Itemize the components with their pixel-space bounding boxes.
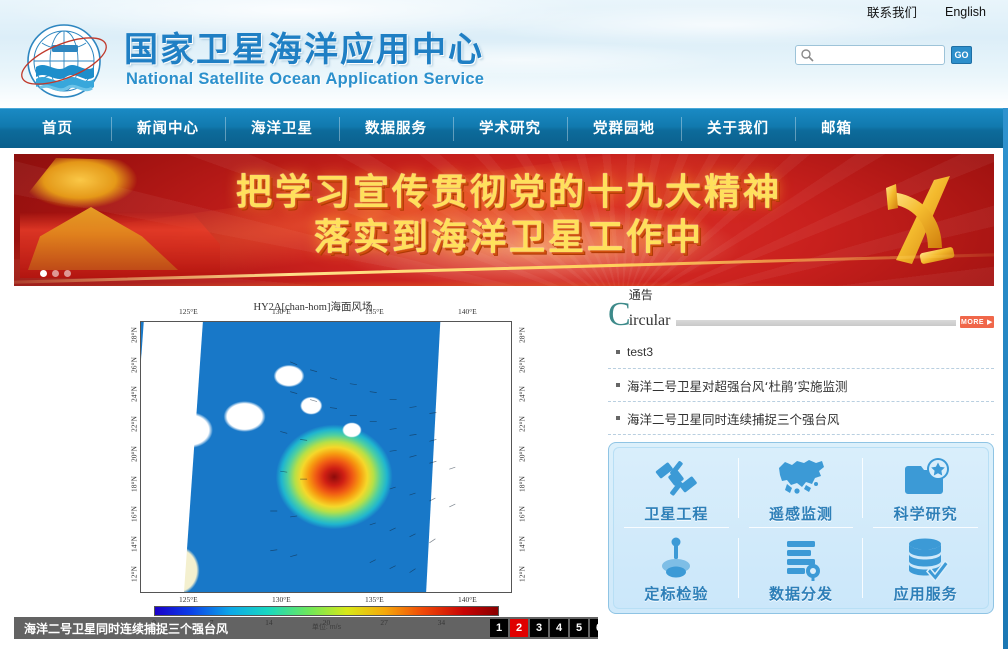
feature-caption-bar: 海洋二号卫星同时连续捕捉三个强台风 1 2 3 4 5 6 [14, 617, 598, 639]
quick-link-calibration-validation[interactable]: 定标检验 [614, 528, 739, 608]
wind-vector-arrows [141, 322, 511, 593]
y-tick-right-4: 20°N [517, 446, 526, 462]
banner-line-1: 把学习宣传贯彻党的十九大精神 [189, 172, 829, 214]
y-tick-right-0: 28°N [517, 327, 526, 343]
right-edge-accent [1003, 108, 1008, 649]
data-gear-icon [775, 534, 827, 582]
header-top-links: 联系我们 English [867, 2, 986, 21]
quick-link-scientific-research[interactable]: 科学研究 [863, 448, 988, 528]
nav-item-research[interactable]: 学术研究 [453, 109, 567, 149]
pager-item-1[interactable]: 1 [490, 619, 508, 637]
search-box: GO [795, 45, 972, 65]
bullet-icon [616, 416, 620, 420]
news-item-label: 海洋二号卫星同时连续捕捉三个强台风 [627, 409, 840, 428]
banner-dots [40, 270, 71, 277]
folder-star-icon [900, 454, 952, 502]
y-tick-left-1: 26°N [129, 357, 138, 373]
site-header: 国家卫星海洋应用中心 National Satellite Ocean Appl… [0, 0, 1008, 108]
y-tick-left-8: 12°N [129, 566, 138, 582]
y-tick-left-7: 14°N [129, 536, 138, 552]
main-navigation: 首页 新闻中心 海洋卫星 数据服务 学术研究 党群园地 关于我们 邮箱 [0, 108, 1008, 148]
y-tick-right-5: 18°N [517, 476, 526, 492]
list-item[interactable]: 海洋二号卫星同时连续捕捉三个强台风 [608, 402, 994, 435]
banner-text: 把学习宣传贯彻党的十九大精神 落实到海洋卫星工作中 [189, 172, 829, 260]
news-item-label: test3 [627, 345, 653, 359]
banner-line-2: 落实到海洋卫星工作中 [189, 217, 829, 259]
banner-dot-1[interactable] [40, 270, 47, 277]
pager-item-2[interactable]: 2 [510, 619, 528, 637]
quick-link-label: 数据分发 [769, 583, 833, 604]
x-tick-bot-2: 135°E [365, 595, 384, 604]
search-input[interactable] [814, 47, 938, 63]
more-arrow-icon: ▶ [987, 318, 993, 326]
bullet-icon [616, 350, 620, 354]
wind-field-chart: HY2A[chan-hom]海面风场 125°E 130°E 135°E 140… [14, 294, 598, 639]
database-check-icon [900, 534, 952, 582]
y-tick-left-4: 20°N [129, 446, 138, 462]
x-tick-bot-0: 125°E [179, 595, 198, 604]
y-tick-left-2: 24°N [129, 386, 138, 402]
banner-dot-3[interactable] [64, 270, 71, 277]
circular-more-button[interactable]: MORE ▶ [960, 316, 994, 328]
site-title-en: National Satellite Ocean Application Ser… [126, 70, 484, 89]
list-item[interactable]: test3 [608, 336, 994, 369]
y-tick-right-6: 16°N [517, 506, 526, 522]
contact-us-link[interactable]: 联系我们 [867, 2, 917, 21]
x-tick-bot-1: 130°E [272, 595, 291, 604]
list-item[interactable]: 海洋二号卫星对超强台风‘杜鹃’实施监测 [608, 369, 994, 402]
circular-panel-header: C 通告 ircular MORE ▶ [608, 294, 994, 330]
banner-dot-2[interactable] [52, 270, 59, 277]
y-tick-left-5: 18°N [129, 476, 138, 492]
circular-title-zh: 通告 [629, 286, 653, 303]
pager-item-5[interactable]: 5 [570, 619, 588, 637]
quick-link-application-service[interactable]: 应用服务 [863, 528, 988, 608]
quick-link-label: 定标检验 [644, 583, 708, 604]
quick-link-satellite-engineering[interactable]: 卫星工程 [614, 448, 739, 528]
main-content: HY2A[chan-hom]海面风场 125°E 130°E 135°E 140… [0, 286, 1008, 639]
circular-title-en: ircular [629, 312, 671, 329]
satellite-icon [650, 454, 702, 502]
site-title-zh: 国家卫星海洋应用中心 [124, 22, 484, 71]
quick-links-panel: 卫星工程 [608, 442, 994, 614]
world-map-icon [775, 454, 827, 502]
circular-title-block: 通告 ircular [629, 312, 671, 330]
feature-pager: 1 2 3 4 5 6 [490, 619, 598, 637]
x-tick-top-3: 140°E [458, 307, 477, 316]
x-tick-top-0: 125°E [179, 307, 198, 316]
chart-y-axis-right: 28°N 26°N 24°N 22°N 20°N 18°N 16°N 14°N … [514, 321, 530, 593]
y-tick-right-2: 24°N [517, 386, 526, 402]
more-label: MORE [961, 319, 984, 326]
nav-item-party[interactable]: 党群园地 [567, 109, 681, 149]
quick-link-data-distribution[interactable]: 数据分发 [739, 528, 864, 608]
feature-slider[interactable]: HY2A[chan-hom]海面风场 125°E 130°E 135°E 140… [14, 294, 598, 639]
search-icon [800, 48, 814, 62]
x-tick-top-2: 135°E [365, 307, 384, 316]
search-go-button[interactable]: GO [951, 46, 972, 64]
y-tick-left-0: 28°N [129, 327, 138, 343]
y-tick-left-6: 16°N [129, 506, 138, 522]
bullet-icon [616, 383, 620, 387]
nav-item-news[interactable]: 新闻中心 [111, 109, 225, 149]
quick-link-label: 科学研究 [894, 503, 958, 524]
globe-wave-orbit-logo[interactable] [16, 15, 112, 103]
y-tick-right-7: 14°N [517, 536, 526, 552]
nav-item-mail[interactable]: 邮箱 [795, 109, 878, 149]
y-tick-right-1: 26°N [517, 357, 526, 373]
quick-link-label: 遥感监测 [769, 503, 833, 524]
pager-item-3[interactable]: 3 [530, 619, 548, 637]
nav-item-satellite[interactable]: 海洋卫星 [225, 109, 339, 149]
nav-item-about[interactable]: 关于我们 [681, 109, 795, 149]
circular-news-list: test3 海洋二号卫星对超强台风‘杜鹃’实施监测 海洋二号卫星同时连续捕捉三个… [608, 336, 994, 435]
y-tick-right-3: 22°N [517, 416, 526, 432]
pager-item-6[interactable]: 6 [590, 619, 598, 637]
right-column: C 通告 ircular MORE ▶ test3 海洋二号卫 [608, 294, 994, 639]
y-tick-left-3: 22°N [129, 416, 138, 432]
page-root: 国家卫星海洋应用中心 National Satellite Ocean Appl… [0, 0, 1008, 649]
nav-item-home[interactable]: 首页 [0, 109, 111, 149]
quick-link-label: 卫星工程 [644, 503, 708, 524]
pager-item-4[interactable]: 4 [550, 619, 568, 637]
antenna-signal-icon [650, 534, 702, 582]
colorbar-gradient [154, 606, 499, 616]
x-tick-top-1: 130°E [272, 307, 291, 316]
nav-item-data[interactable]: 数据服务 [339, 109, 453, 149]
x-tick-bot-3: 140°E [458, 595, 477, 604]
promo-banner[interactable]: 把学习宣传贯彻党的十九大精神 落实到海洋卫星工作中 [14, 154, 994, 286]
quick-links-grid: 卫星工程 [613, 447, 989, 609]
header-rule [676, 320, 956, 326]
chart-plot-area [140, 321, 512, 593]
circular-big-c: C [608, 300, 631, 330]
quick-link-label: 应用服务 [894, 583, 958, 604]
feature-caption[interactable]: 海洋二号卫星同时连续捕捉三个强台风 [24, 620, 228, 637]
banner-wrap: 把学习宣传贯彻党的十九大精神 落实到海洋卫星工作中 [0, 148, 1008, 286]
english-link[interactable]: English [945, 5, 986, 19]
y-tick-right-8: 12°N [517, 566, 526, 582]
chart-x-axis-top: 125°E 130°E 135°E 140°E [140, 307, 512, 321]
quick-link-remote-sensing[interactable]: 遥感监测 [739, 448, 864, 528]
news-item-label: 海洋二号卫星对超强台风‘杜鹃’实施监测 [627, 376, 847, 395]
search-field[interactable] [795, 45, 945, 65]
